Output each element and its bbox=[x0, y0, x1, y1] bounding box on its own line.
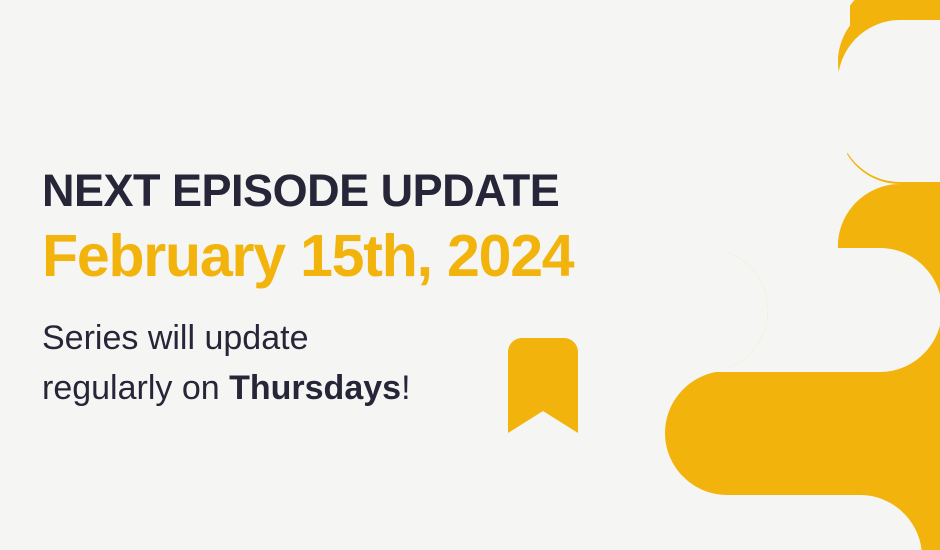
schedule-note-line-2: regularly on Thursdays! bbox=[42, 364, 742, 414]
schedule-note-line-1: Series will update bbox=[42, 314, 742, 364]
schedule-note-prefix: regularly on bbox=[42, 369, 229, 407]
next-episode-update-banner: NEXT EPISODE UPDATE February 15th, 2024 … bbox=[0, 0, 940, 550]
bookmark-icon bbox=[508, 338, 578, 433]
schedule-note: Series will update regularly on Thursday… bbox=[42, 286, 742, 413]
schedule-note-day: Thursdays bbox=[229, 369, 401, 407]
banner-content: NEXT EPISODE UPDATE February 15th, 2024 … bbox=[42, 168, 742, 413]
page-title: NEXT EPISODE UPDATE bbox=[42, 168, 742, 213]
episode-date: February 15th, 2024 bbox=[42, 213, 742, 286]
schedule-note-suffix: ! bbox=[401, 369, 410, 407]
